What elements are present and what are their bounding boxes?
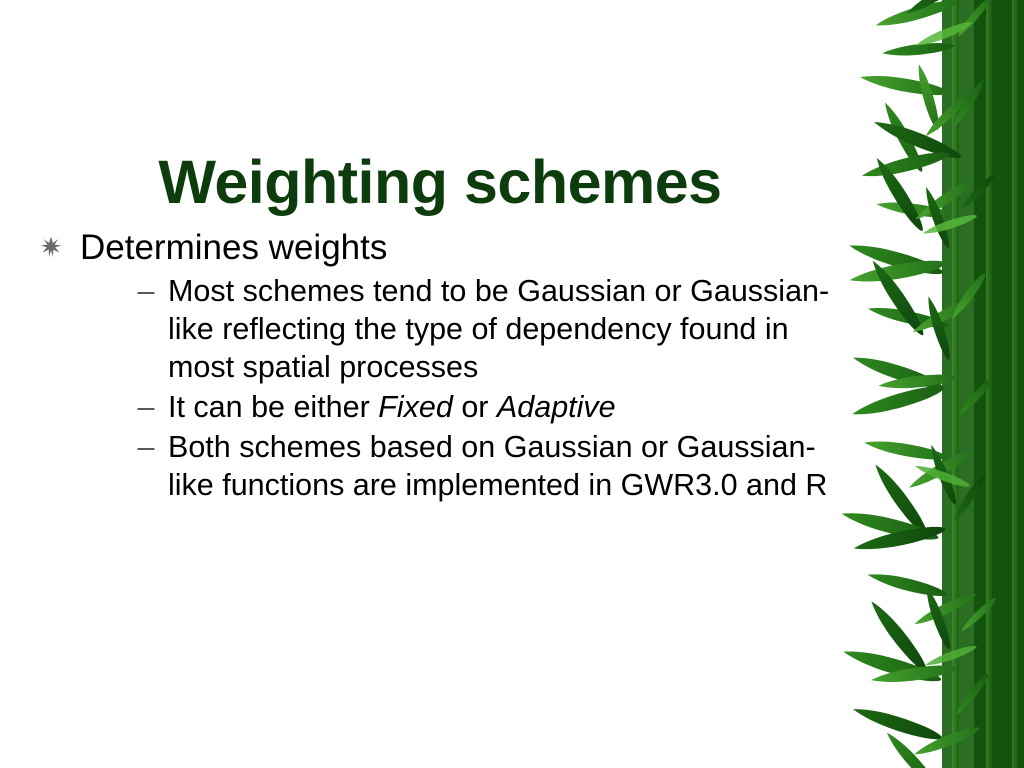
- bullet-level2-label: Most schemes tend to be Gaussian or Gaus…: [168, 272, 852, 386]
- content-body: Determines weights – Most schemes tend t…: [32, 226, 852, 514]
- en-dash-icon: –: [133, 428, 159, 466]
- bullet-level1-label: Determines weights: [80, 226, 852, 270]
- text-segment-italic: Adaptive: [497, 390, 616, 424]
- eight-point-star-icon: [36, 227, 66, 267]
- bullet-level2: – It can be either Fixed or Adaptive: [80, 388, 852, 426]
- page-title: Weighting schemes: [158, 149, 721, 215]
- bullet-level2-label: Both schemes based on Gaussian or Gaussi…: [168, 428, 852, 504]
- en-dash-icon: –: [133, 388, 159, 426]
- text-segment: It can be either: [168, 390, 378, 424]
- text-segment: or: [453, 390, 497, 424]
- bullet-level2: – Most schemes tend to be Gaussian or Ga…: [80, 272, 852, 386]
- bullet-level2: – Both schemes based on Gaussian or Gaus…: [80, 428, 852, 504]
- bullet-level2-label: It can be either Fixed or Adaptive: [168, 388, 852, 426]
- sub-bullet-list: – Most schemes tend to be Gaussian or Ga…: [80, 272, 852, 504]
- text-segment-italic: Fixed: [378, 390, 453, 424]
- bullet-level1: Determines weights – Most schemes tend t…: [32, 226, 852, 504]
- en-dash-icon: –: [133, 272, 159, 310]
- slide-canvas: Weighting schemes Determines weights – M…: [0, 0, 1024, 768]
